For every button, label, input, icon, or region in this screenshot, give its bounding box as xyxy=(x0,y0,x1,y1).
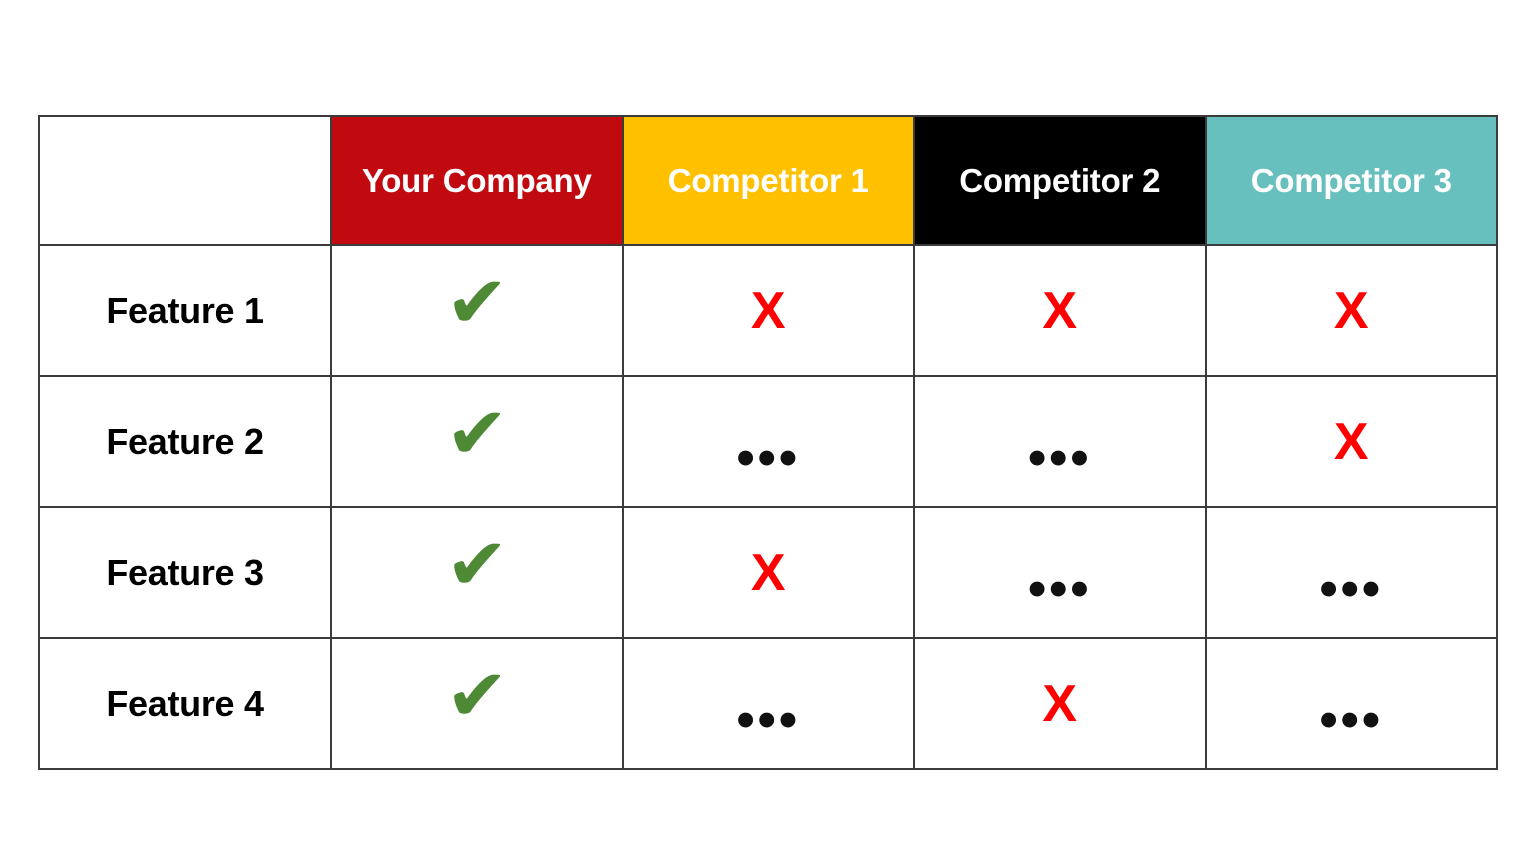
cell-feature-4-competitor-3[interactable]: ••• xyxy=(1206,638,1498,769)
ellipsis-icon: ••• xyxy=(736,432,800,484)
column-header-label-competitor-2: Competitor 2 xyxy=(915,164,1205,197)
table-row: Feature 3✔X•••••• xyxy=(39,507,1497,638)
cross-icon: X xyxy=(1334,285,1369,337)
column-header-label-competitor-3: Competitor 3 xyxy=(1207,164,1497,197)
cross-icon: X xyxy=(1334,416,1369,468)
cell-feature-4-competitor-1[interactable]: ••• xyxy=(623,638,915,769)
check-icon: ✔ xyxy=(445,267,508,339)
column-header-competitor-1[interactable]: Competitor 1 xyxy=(623,116,915,245)
cell-feature-4-your-company[interactable]: ✔ xyxy=(331,638,623,769)
cell-feature-1-your-company[interactable]: ✔ xyxy=(331,245,623,376)
cell-feature-3-competitor-2[interactable]: ••• xyxy=(914,507,1206,638)
cross-icon: X xyxy=(751,547,786,599)
ellipsis-icon: ••• xyxy=(736,694,800,746)
check-icon: ✔ xyxy=(445,660,508,732)
cell-feature-1-competitor-2[interactable]: X xyxy=(914,245,1206,376)
table-corner-cell xyxy=(39,116,331,245)
table-row: Feature 1✔XXX xyxy=(39,245,1497,376)
column-header-competitor-3[interactable]: Competitor 3 xyxy=(1206,116,1498,245)
check-icon: ✔ xyxy=(445,398,508,470)
check-icon: ✔ xyxy=(445,529,508,601)
cross-icon: X xyxy=(751,285,786,337)
cell-feature-1-competitor-3[interactable]: X xyxy=(1206,245,1498,376)
cell-feature-2-your-company[interactable]: ✔ xyxy=(331,376,623,507)
cross-icon: X xyxy=(1042,285,1077,337)
table-row: Feature 4✔•••X••• xyxy=(39,638,1497,769)
column-header-label-competitor-1: Competitor 1 xyxy=(624,164,914,197)
feature-label: Feature 2 xyxy=(106,421,263,462)
header-row: Your Company Competitor 1 Competitor 2 C… xyxy=(39,116,1497,245)
table-body: Feature 1✔XXXFeature 2✔••••••XFeature 3✔… xyxy=(39,245,1497,769)
table-row: Feature 2✔••••••X xyxy=(39,376,1497,507)
column-header-competitor-2[interactable]: Competitor 2 xyxy=(914,116,1206,245)
cell-feature-2-competitor-2[interactable]: ••• xyxy=(914,376,1206,507)
ellipsis-icon: ••• xyxy=(1319,694,1383,746)
feature-label: Feature 3 xyxy=(106,552,263,593)
feature-label-cell: Feature 2 xyxy=(39,376,331,507)
ellipsis-icon: ••• xyxy=(1319,563,1383,615)
comparison-table: Your Company Competitor 1 Competitor 2 C… xyxy=(38,115,1498,770)
cross-icon: X xyxy=(1042,678,1077,730)
cell-feature-2-competitor-3[interactable]: X xyxy=(1206,376,1498,507)
cell-feature-1-competitor-1[interactable]: X xyxy=(623,245,915,376)
feature-label: Feature 1 xyxy=(106,290,263,331)
ellipsis-icon: ••• xyxy=(1028,563,1092,615)
table-header: Your Company Competitor 1 Competitor 2 C… xyxy=(39,116,1497,245)
cell-feature-3-competitor-1[interactable]: X xyxy=(623,507,915,638)
cell-feature-4-competitor-2[interactable]: X xyxy=(914,638,1206,769)
cell-feature-3-competitor-3[interactable]: ••• xyxy=(1206,507,1498,638)
ellipsis-icon: ••• xyxy=(1028,432,1092,484)
cell-feature-3-your-company[interactable]: ✔ xyxy=(331,507,623,638)
feature-label: Feature 4 xyxy=(106,683,263,724)
feature-label-cell: Feature 3 xyxy=(39,507,331,638)
feature-label-cell: Feature 4 xyxy=(39,638,331,769)
cell-feature-2-competitor-1[interactable]: ••• xyxy=(623,376,915,507)
column-header-your-company[interactable]: Your Company xyxy=(331,116,623,245)
column-header-label-your-company: Your Company xyxy=(332,164,622,197)
page-canvas: Your Company Competitor 1 Competitor 2 C… xyxy=(0,0,1536,864)
feature-label-cell: Feature 1 xyxy=(39,245,331,376)
